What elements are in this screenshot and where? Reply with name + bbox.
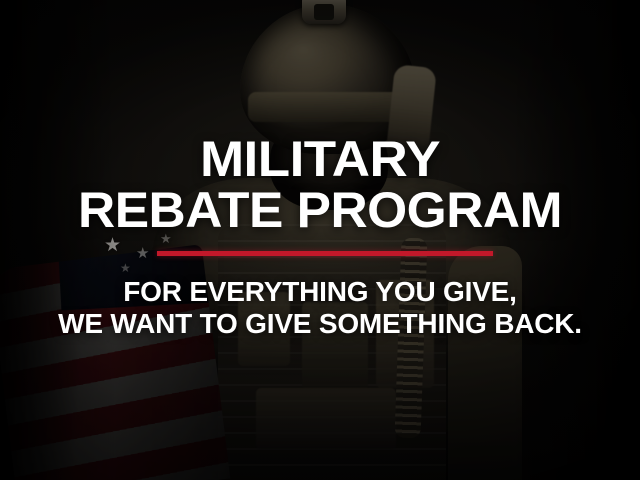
subheadline-line-2: WE WANT TO GIVE SOMETHING BACK.: [0, 309, 640, 339]
accent-divider: [157, 251, 493, 256]
subheadline-line-1: FOR EVERYTHING YOU GIVE,: [0, 277, 640, 307]
text-overlay: MILITARY REBATE PROGRAM FOR EVERYTHING Y…: [0, 0, 640, 480]
headline-line-1: MILITARY: [0, 134, 640, 184]
headline-line-2: REBATE PROGRAM: [0, 185, 640, 235]
military-rebate-banner: ★ ★ ★ ★ MILITARY REBATE PROGRAM FOR EVER…: [0, 0, 640, 480]
